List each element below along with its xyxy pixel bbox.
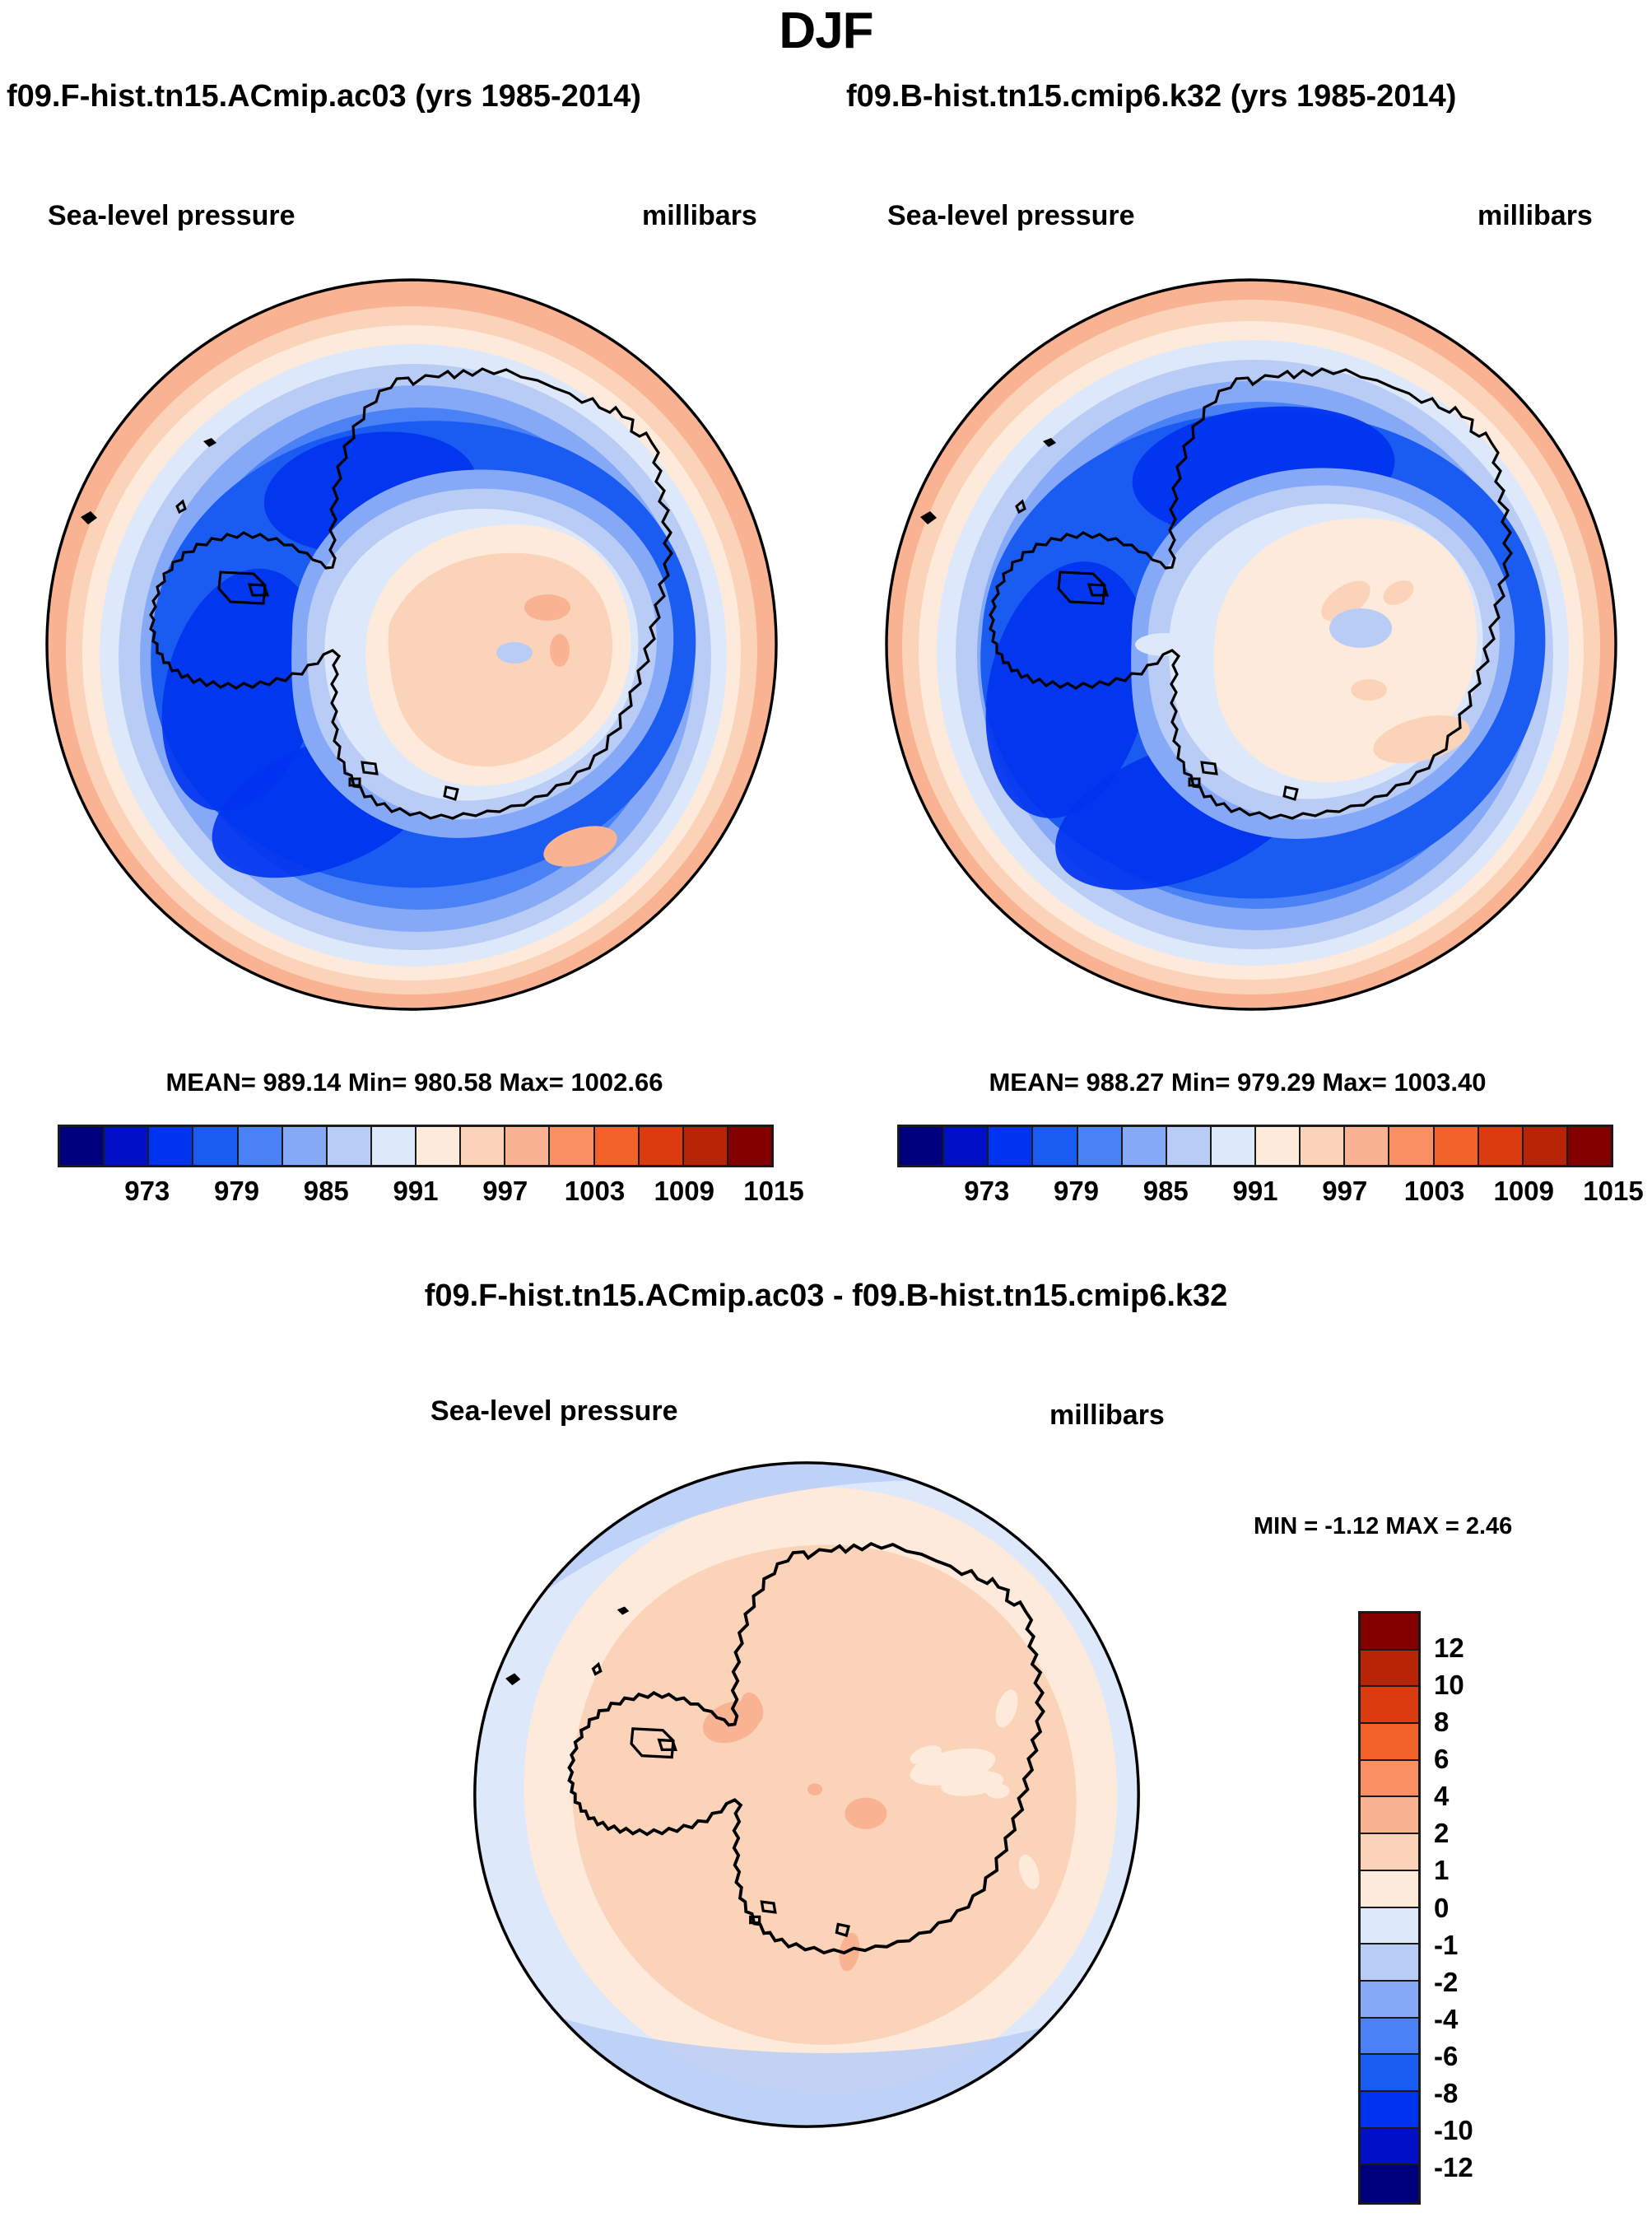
- colorbar-diff-tick-neg1: -1: [1434, 1930, 1458, 1961]
- colorbar-cell-14: [684, 1127, 728, 1165]
- colorbar-tick-985: 985: [1143, 1176, 1189, 1207]
- diff-panel-header: f09.F-hist.tn15.ACmip.ac03 - f09.B-hist.…: [0, 1279, 1652, 1314]
- colorbar-tick-997: 997: [1322, 1176, 1367, 1207]
- colorbar-tick-997: 997: [482, 1176, 528, 1207]
- colorbar-diff-tick-4: 4: [1434, 1781, 1449, 1812]
- colorbar-diff-cell-2: [1361, 1687, 1418, 1724]
- map-diff: [473, 1461, 1140, 2128]
- colorbar-tick-1009: 1009: [654, 1176, 714, 1207]
- colorbar-tick-979: 979: [214, 1176, 259, 1207]
- colorbar-tick-1003: 1003: [1404, 1176, 1464, 1207]
- colorbar-diff-tick-10: 10: [1434, 1670, 1464, 1701]
- panel-header-right: f09.B-hist.tn15.cmip6.k32 (yrs 1985-2014…: [846, 79, 1456, 114]
- colorbar-diff-cell-9: [1361, 1945, 1418, 1982]
- colorbar-diff-cell-10: [1361, 1982, 1418, 2019]
- colorbar-cell-1: [105, 1127, 149, 1165]
- colorbar-cell-15: [1568, 1127, 1611, 1165]
- colorbar-diff-cell-15: [1361, 2165, 1418, 2202]
- colorbar-diff-cell-13: [1361, 2092, 1418, 2129]
- left-units-label: millibars: [642, 200, 757, 232]
- colorbar-diff-cell-4: [1361, 1761, 1418, 1798]
- colorbar-cell-10: [1345, 1127, 1389, 1165]
- colorbar-cell-7: [372, 1127, 416, 1165]
- colorbar-cell-9: [1301, 1127, 1345, 1165]
- colorbar-cell-14: [1524, 1127, 1568, 1165]
- colorbar-cell-13: [1479, 1127, 1524, 1165]
- colorbar-cell-11: [550, 1127, 594, 1165]
- colorbar-diff-tick-neg6: -6: [1434, 2041, 1458, 2072]
- colorbar-diff-cell-11: [1361, 2019, 1418, 2056]
- colorbar-diff-tick-neg12: -12: [1434, 2152, 1473, 2183]
- colorbar-tick-1015: 1015: [743, 1176, 803, 1207]
- colorbar-diff-tick-12: 12: [1434, 1632, 1464, 1664]
- colorbar-cell-1: [944, 1127, 989, 1165]
- colorbar-diff-cell-6: [1361, 1834, 1418, 1871]
- colorbar-diff-tick-neg4: -4: [1434, 2004, 1458, 2035]
- colorbar-diff[interactable]: [1358, 1611, 1421, 2205]
- colorbar-cell-13: [640, 1127, 684, 1165]
- panel-header-left: f09.F-hist.tn15.ACmip.ac03 (yrs 1985-201…: [7, 79, 641, 114]
- colorbar-cell-8: [1256, 1127, 1301, 1165]
- colorbar-cell-7: [1212, 1127, 1256, 1165]
- colorbar-tick-979: 979: [1054, 1176, 1099, 1207]
- colorbar-cell-5: [1123, 1127, 1167, 1165]
- colorbar-cell-6: [1167, 1127, 1212, 1165]
- colorbar-right[interactable]: [897, 1125, 1613, 1167]
- colorbar-cell-3: [193, 1127, 238, 1165]
- colorbar-diff-tick-1: 1: [1434, 1855, 1449, 1886]
- colorbar-diff-tick-6: 6: [1434, 1744, 1449, 1775]
- colorbar-diff-cell-14: [1361, 2129, 1418, 2166]
- colorbar-right-labels: 973979985991997100310091015: [897, 1176, 1613, 1212]
- colorbar-cell-11: [1389, 1127, 1434, 1165]
- colorbar-tick-1009: 1009: [1494, 1176, 1554, 1207]
- colorbar-cell-2: [149, 1127, 193, 1165]
- colorbar-cell-8: [416, 1127, 461, 1165]
- map-left: [45, 278, 778, 1011]
- diff-variable-label: Sea-level pressure: [430, 1395, 678, 1428]
- colorbar-left-labels: 973979985991997100310091015: [58, 1176, 774, 1212]
- colorbar-cell-12: [595, 1127, 640, 1165]
- colorbar-diff-tick-neg10: -10: [1434, 2115, 1473, 2146]
- page-title: DJF: [0, 2, 1652, 60]
- colorbar-tick-973: 973: [124, 1176, 170, 1207]
- colorbar-cell-10: [505, 1127, 550, 1165]
- left-stats: MEAN= 989.14 Min= 980.58 Max= 1002.66: [0, 1068, 829, 1097]
- colorbar-diff-cell-3: [1361, 1724, 1418, 1761]
- colorbar-diff-cell-7: [1361, 1871, 1418, 1908]
- colorbar-diff-cell-5: [1361, 1797, 1418, 1834]
- colorbar-diff-tick-neg2: -2: [1434, 1967, 1458, 1998]
- colorbar-cell-9: [461, 1127, 505, 1165]
- colorbar-tick-991: 991: [1232, 1176, 1277, 1207]
- colorbar-cell-0: [60, 1127, 105, 1165]
- colorbar-diff-cell-1: [1361, 1651, 1418, 1688]
- colorbar-cell-15: [728, 1127, 771, 1165]
- colorbar-tick-1015: 1015: [1583, 1176, 1643, 1207]
- colorbar-diff-cell-0: [1361, 1614, 1418, 1651]
- map-right: [885, 278, 1617, 1011]
- colorbar-diff-cell-8: [1361, 1908, 1418, 1945]
- colorbar-cell-0: [900, 1127, 944, 1165]
- colorbar-diff-cell-12: [1361, 2055, 1418, 2092]
- right-stats: MEAN= 988.27 Min= 979.29 Max= 1003.40: [823, 1068, 1652, 1097]
- colorbar-cell-12: [1435, 1127, 1479, 1165]
- left-variable-label: Sea-level pressure: [48, 200, 295, 232]
- colorbar-cell-5: [283, 1127, 328, 1165]
- colorbar-tick-973: 973: [964, 1176, 1009, 1207]
- colorbar-cell-4: [239, 1127, 283, 1165]
- colorbar-cell-3: [1033, 1127, 1077, 1165]
- colorbar-left[interactable]: [58, 1125, 774, 1167]
- colorbar-diff-tick-0: 0: [1434, 1893, 1449, 1924]
- right-units-label: millibars: [1477, 200, 1593, 232]
- colorbar-diff-tick-neg8: -8: [1434, 2078, 1458, 2109]
- colorbar-tick-985: 985: [304, 1176, 349, 1207]
- diff-units-label: millibars: [1049, 1400, 1165, 1432]
- diff-minmax-label: MIN = -1.12 MAX = 2.46: [1254, 1513, 1512, 1540]
- right-variable-label: Sea-level pressure: [887, 200, 1135, 232]
- colorbar-cell-4: [1078, 1127, 1123, 1165]
- colorbar-tick-991: 991: [393, 1176, 438, 1207]
- colorbar-cell-2: [989, 1127, 1033, 1165]
- colorbar-diff-tick-8: 8: [1434, 1707, 1449, 1738]
- colorbar-diff-tick-2: 2: [1434, 1818, 1449, 1849]
- colorbar-tick-1003: 1003: [565, 1176, 625, 1207]
- colorbar-cell-6: [328, 1127, 372, 1165]
